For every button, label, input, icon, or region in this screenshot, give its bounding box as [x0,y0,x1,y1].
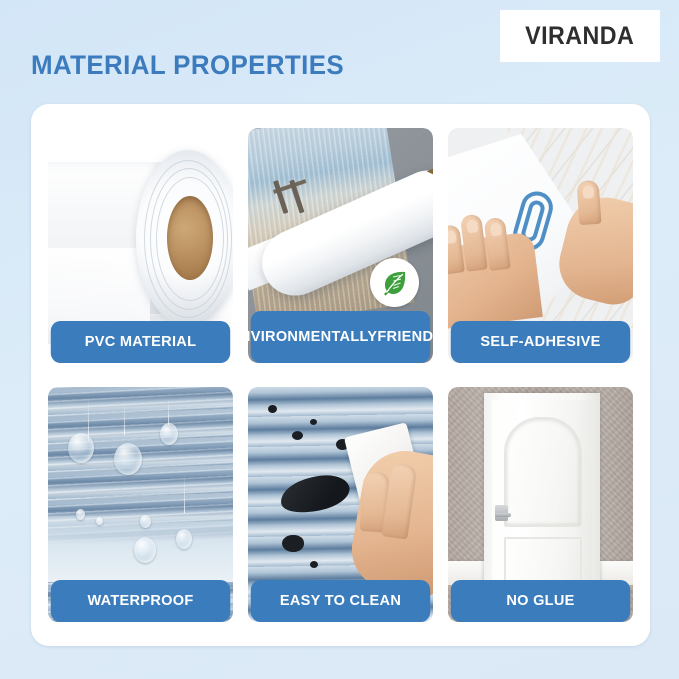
feature-card-pvc-material[interactable]: PVC MATERIAL [48,128,233,363]
droplet-trail [184,473,185,513]
door-handle-bar [495,513,511,517]
stain-spot [268,405,277,413]
feature-card-waterproof[interactable]: WATERPROOF [48,387,233,622]
water-droplet [176,529,192,549]
feature-card-self-adhesive[interactable]: SELF-ADHESIVE [448,128,633,363]
water-droplet [68,433,94,463]
brand-name: VIRANDA [525,22,634,51]
leaf-icon [370,258,419,307]
water-droplet [140,515,151,528]
feature-card-easy-to-clean[interactable]: EASY TO CLEAN [248,387,433,622]
features-panel: PVC MATERIAL [31,104,650,646]
feature-label-pvc-material: PVC MATERIAL [51,321,230,363]
stain-spot [292,431,303,440]
feature-card-no-glue[interactable]: NO GLUE [448,387,633,622]
finger [576,180,601,225]
feature-label-self-adhesive: SELF-ADHESIVE [451,321,630,363]
feature-label-no-glue: NO GLUE [451,580,630,622]
fingernail [582,185,594,199]
feature-label-easy-to-clean: EASY TO CLEAN [251,580,430,622]
door-panel-top [504,417,582,527]
roll-core [167,196,213,280]
fingernail [466,219,479,233]
water-droplet [114,443,142,475]
infographic-page: VIRANDA MATERIAL PROPERTIES PVC MATERIAL [0,0,679,679]
stain-spot [310,561,318,568]
pier-structure [271,173,316,217]
feature-card-environmentally-friendly[interactable]: ENVIRONMENTALLYFRIENDLY [248,128,433,363]
water-droplet [96,517,103,525]
feature-label-waterproof: WATERPROOF [51,580,230,622]
features-grid: PVC MATERIAL [48,128,633,622]
droplet-trail [88,395,89,441]
feature-label-environmentally-friendly: ENVIRONMENTALLYFRIENDLY [251,311,430,363]
brand-badge: VIRANDA [500,10,660,62]
water-droplet [160,423,178,445]
left-hand [448,231,543,328]
fingernail [448,230,457,244]
stain-spot [282,535,304,552]
fingernail [489,222,502,236]
droplet-trail [124,401,125,435]
finger [381,463,417,540]
water-droplet [134,537,156,563]
stain-spot [310,419,317,425]
water-droplet [76,509,85,520]
page-title: MATERIAL PROPERTIES [31,50,344,81]
roll-cut-end [427,163,433,191]
droplet-trail [168,397,169,425]
